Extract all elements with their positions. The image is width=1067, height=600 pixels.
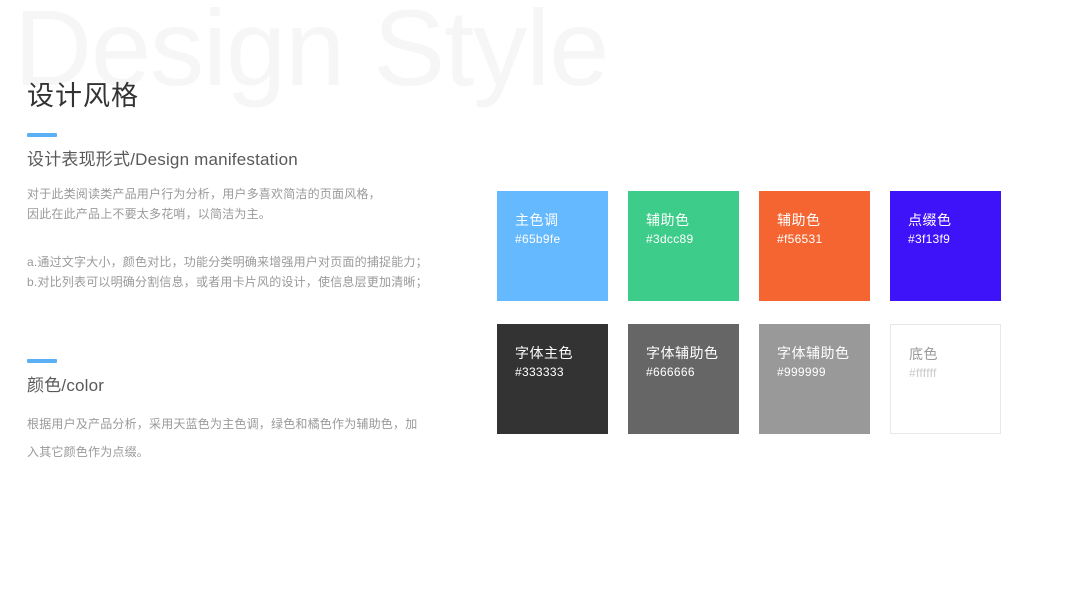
color-swatch-label: 点缀色 [908, 211, 1001, 230]
page-title: 设计风格 [27, 80, 139, 112]
color-swatch-hex: #ffffff [909, 364, 1000, 382]
color-swatch[interactable]: 主色调#65b9fe [497, 191, 608, 301]
color-swatch-hex: #f56531 [777, 230, 870, 248]
color-swatch-hex: #3f13f9 [908, 230, 1001, 248]
accent-bar-manifestation [27, 133, 57, 137]
section-color: 颜色/color 根据用户及产品分析，采用天蓝色为主色调，绿色和橘色作为辅助色，… [27, 359, 477, 466]
color-swatch-label: 底色 [909, 345, 1000, 364]
left-content-column: 设计表现形式/Design manifestation 对于此类阅读类产品用户行… [27, 133, 477, 466]
color-swatch[interactable]: 辅助色#f56531 [759, 191, 870, 301]
color-swatch-label: 字体辅助色 [777, 344, 870, 363]
color-swatch-hex: #999999 [777, 363, 870, 381]
color-swatch[interactable]: 辅助色#3dcc89 [628, 191, 739, 301]
design-style-slide: Design Style 设计风格 设计表现形式/Design manifest… [0, 0, 1067, 600]
accent-bar-color [27, 359, 57, 363]
color-swatch-hex: #65b9fe [515, 230, 608, 248]
paragraph-spacer [27, 224, 477, 252]
color-swatch-label: 辅助色 [777, 211, 870, 230]
color-swatch[interactable]: 字体辅助色#666666 [628, 324, 739, 434]
color-paragraph-line-2: 入其它颜色作为点缀。 [27, 438, 477, 466]
color-swatch[interactable]: 字体主色#333333 [497, 324, 608, 434]
color-swatch-hex: #3dcc89 [646, 230, 739, 248]
color-swatch-label: 字体主色 [515, 344, 608, 363]
color-swatch-label: 辅助色 [646, 211, 739, 230]
manifestation-point-a: a.通过文字大小，颜色对比，功能分类明确来增强用户对页面的捕捉能力； [27, 252, 477, 272]
color-swatch[interactable]: 字体辅助色#999999 [759, 324, 870, 434]
color-swatch-grid: 主色调#65b9fe辅助色#3dcc89辅助色#f56531点缀色#3f13f9… [497, 191, 1001, 434]
manifestation-paragraph: 对于此类阅读类产品用户行为分析，用户多喜欢简洁的页面风格， 因此在此产品上不要太… [27, 184, 477, 224]
color-swatch-hex: #666666 [646, 363, 739, 381]
color-swatch-label: 主色调 [515, 211, 608, 230]
manifestation-points: a.通过文字大小，颜色对比，功能分类明确来增强用户对页面的捕捉能力； b.对比列… [27, 252, 477, 292]
section-heading-color: 颜色/color [27, 375, 477, 397]
color-paragraph: 根据用户及产品分析，采用天蓝色为主色调，绿色和橘色作为辅助色，加 入其它颜色作为… [27, 410, 477, 466]
manifestation-point-b: b.对比列表可以明确分割信息，或者用卡片风的设计，使信息层更加清晰； [27, 272, 477, 292]
color-swatch[interactable]: 点缀色#3f13f9 [890, 191, 1001, 301]
color-paragraph-line-1: 根据用户及产品分析，采用天蓝色为主色调，绿色和橘色作为辅助色，加 [27, 410, 477, 438]
manifestation-paragraph-line-2: 因此在此产品上不要太多花哨，以简洁为主。 [27, 204, 477, 224]
section-design-manifestation: 设计表现形式/Design manifestation 对于此类阅读类产品用户行… [27, 133, 477, 292]
color-swatch[interactable]: 底色#ffffff [890, 324, 1001, 434]
section-heading-manifestation: 设计表现形式/Design manifestation [27, 149, 477, 171]
color-swatch-hex: #333333 [515, 363, 608, 381]
color-swatch-label: 字体辅助色 [646, 344, 739, 363]
manifestation-paragraph-line-1: 对于此类阅读类产品用户行为分析，用户多喜欢简洁的页面风格， [27, 184, 477, 204]
